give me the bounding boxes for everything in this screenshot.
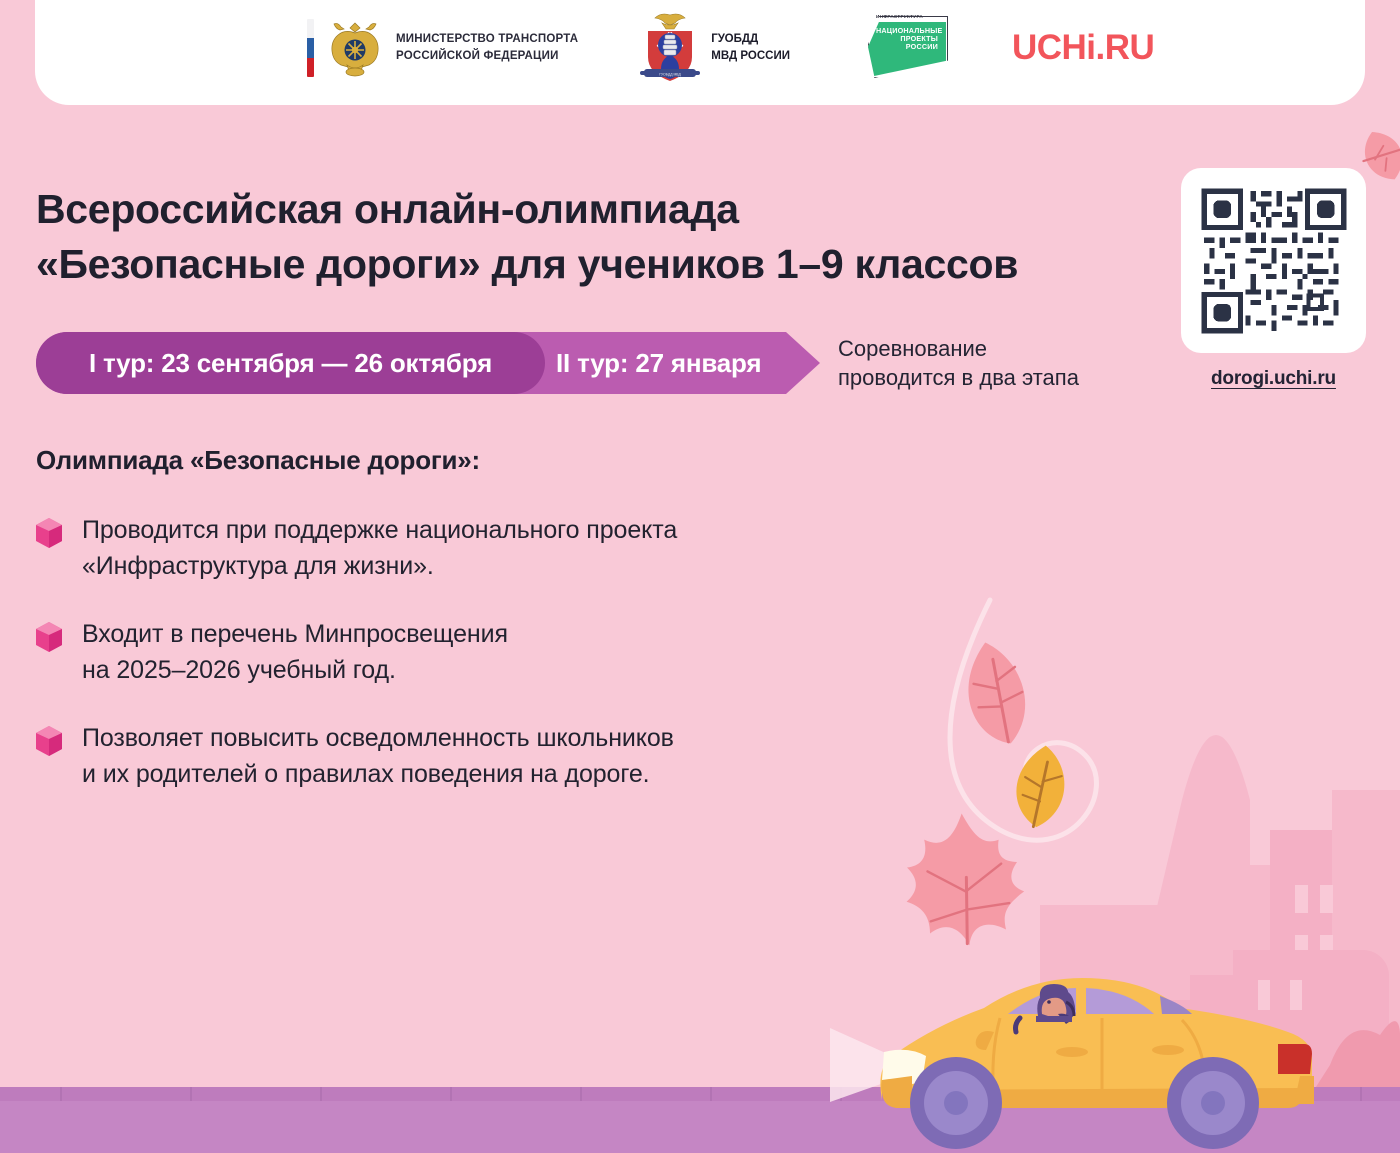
qr-code-icon bbox=[1199, 186, 1349, 336]
rear-wheel bbox=[1167, 1057, 1259, 1149]
svg-text:ГУОБДД МВД: ГУОБДД МВД bbox=[659, 73, 681, 77]
quarter-window bbox=[1160, 996, 1192, 1014]
ribbon-band: I тур: 23 сентября — 26 октября II тур: … bbox=[36, 332, 820, 394]
russian-flag-icon bbox=[307, 19, 314, 77]
uchi-wordmark-icon: UCHi.RU bbox=[1012, 28, 1154, 68]
page-title: Всероссийская онлайн-олимпиада «Безопасн… bbox=[36, 182, 1146, 291]
headline-line-2: «Безопасные дороги» для учеников 1–9 кла… bbox=[36, 237, 1146, 292]
national-projects-label: НАЦИОНАЛЬНЫЕ ПРОЕКТЫ РОССИИ bbox=[876, 27, 938, 51]
national-projects-top-label: ИНФРАСТРУКТУРА bbox=[876, 14, 923, 19]
poster-root: МИНИСТЕРСТВО ТРАНСПОРТА РОССИЙСКОЙ ФЕДЕР… bbox=[0, 0, 1400, 1153]
list-item: Входит в перечень Минпросвещения на 2025… bbox=[36, 616, 866, 688]
mintrans-logo: МИНИСТЕРСТВО ТРАНСПОРТА РОССИЙСКОЙ ФЕДЕР… bbox=[307, 17, 578, 79]
corner-pink-leaf-icon bbox=[1356, 129, 1400, 182]
ribbon-notch bbox=[786, 332, 820, 394]
mvd-shield-emblem-icon: ГУОБДД МВД bbox=[638, 13, 702, 83]
list-item-label: Позволяет повысить осведомленность школь… bbox=[82, 720, 674, 792]
qr-link[interactable]: dorogi.uchi.ru bbox=[1181, 368, 1366, 390]
taillight bbox=[1278, 1044, 1312, 1074]
yellow-sedan-illustration bbox=[830, 940, 1400, 1153]
yellow-leaf-icon bbox=[1011, 742, 1069, 830]
stage-2-badge: II тур: 27 января bbox=[556, 332, 786, 394]
gem-bullet-icon bbox=[36, 518, 62, 548]
list-item-label: Входит в перечень Минпросвещения на 2025… bbox=[82, 616, 508, 688]
national-projects-logo: ИНФРАСТРУКТУРА НАЦИОНАЛЬНЫЕ ПРОЕКТЫ РОСС… bbox=[862, 14, 946, 82]
stages-note: Соревнование проводится в два этапа bbox=[838, 334, 1079, 393]
list-item: Позволяет повысить осведомленность школь… bbox=[36, 720, 866, 792]
mintrans-label: МИНИСТЕРСТВО ТРАНСПОРТА РОССИЙСКОЙ ФЕДЕР… bbox=[396, 31, 578, 64]
headline-line-1: Всероссийская онлайн-олимпиада bbox=[36, 186, 739, 232]
gibdd-logo: ГУОБДД МВД ГУОБДД МВД РОССИИ bbox=[638, 13, 790, 83]
qr-code[interactable] bbox=[1181, 168, 1366, 353]
gem-bullet-icon bbox=[36, 726, 62, 756]
stage-1-badge: I тур: 23 сентября — 26 октября bbox=[36, 332, 545, 394]
gibdd-label: ГУОБДД МВД РОССИИ bbox=[711, 31, 790, 66]
uchi-ru-logo[interactable]: UCHi.RU bbox=[1012, 28, 1154, 68]
header-logo-bar: МИНИСТЕРСТВО ТРАНСПОРТА РОССИЙСКОЙ ФЕДЕР… bbox=[35, 0, 1365, 105]
front-wheel bbox=[910, 1057, 1002, 1149]
pink-maple-leaf-icon bbox=[898, 808, 1029, 952]
section-subtitle: Олимпиада «Безопасные дороги»: bbox=[36, 445, 480, 476]
benefits-list: Проводится при поддержке национального п… bbox=[36, 512, 866, 824]
list-item-label: Проводится при поддержке национального п… bbox=[82, 512, 677, 584]
swirl-decoration bbox=[950, 600, 1096, 840]
list-item: Проводится при поддержке национального п… bbox=[36, 512, 866, 584]
pink-leaf-icon bbox=[958, 637, 1034, 750]
double-headed-eagle-emblem-icon bbox=[324, 17, 386, 79]
gem-bullet-icon bbox=[36, 622, 62, 652]
